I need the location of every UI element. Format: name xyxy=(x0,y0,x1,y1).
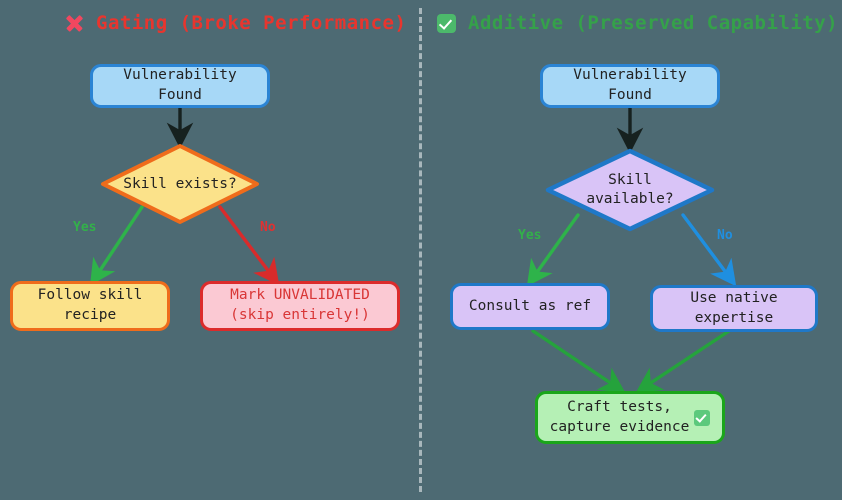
panel-title-additive-label: Additive (Preserved Capability) xyxy=(468,12,838,34)
check-mark-button-icon-inline xyxy=(694,410,710,426)
node-vulnerability-found-gating[interactable]: Vulnerability Found xyxy=(90,64,270,108)
edge-label-yes-gating: Yes xyxy=(73,220,96,235)
edge-label-no-gating: No xyxy=(260,220,276,235)
check-mark-button-icon xyxy=(437,14,456,33)
panel-title-additive: Additive (Preserved Capability) xyxy=(437,12,838,34)
panel-divider xyxy=(419,8,422,492)
node-label: Vulnerability Found xyxy=(101,66,259,105)
node-consult-as-ref[interactable]: Consult as ref xyxy=(450,283,610,330)
node-follow-skill-recipe[interactable]: Follow skill recipe xyxy=(10,281,170,331)
node-vulnerability-found-additive[interactable]: Vulnerability Found xyxy=(540,64,720,108)
node-label: Skill exists? xyxy=(123,175,237,194)
node-skill-exists[interactable]: Skill exists? xyxy=(100,143,260,225)
diagram-canvas: Gating (Broke Performance) Additive (Pre… xyxy=(0,0,842,500)
edge-label-yes-additive: Yes xyxy=(518,228,541,243)
node-label: Skill available? xyxy=(586,171,673,209)
node-label: Mark UNVALIDATED (skip entirely!) xyxy=(230,286,370,325)
node-skill-available[interactable]: Skill available? xyxy=(545,148,715,232)
node-label: Vulnerability Found xyxy=(551,66,709,105)
node-label: Consult as ref xyxy=(469,297,591,317)
node-label: Follow skill recipe xyxy=(38,286,143,325)
node-label: Use native expertise xyxy=(661,289,807,328)
node-mark-unvalidated[interactable]: Mark UNVALIDATED (skip entirely!) xyxy=(200,281,400,331)
edge-consult-to-craft xyxy=(533,331,621,390)
node-use-native-expertise[interactable]: Use native expertise xyxy=(650,285,818,332)
node-label: Craft tests, capture evidence xyxy=(550,398,690,437)
panel-title-gating: Gating (Broke Performance) xyxy=(64,12,406,34)
edge-label-no-additive: No xyxy=(717,228,733,243)
panel-title-gating-label: Gating (Broke Performance) xyxy=(96,12,406,34)
node-craft-tests-capture-evidence[interactable]: Craft tests, capture evidence xyxy=(535,391,725,444)
cross-mark-icon xyxy=(64,13,84,33)
edge-native-to-craft xyxy=(640,331,729,390)
